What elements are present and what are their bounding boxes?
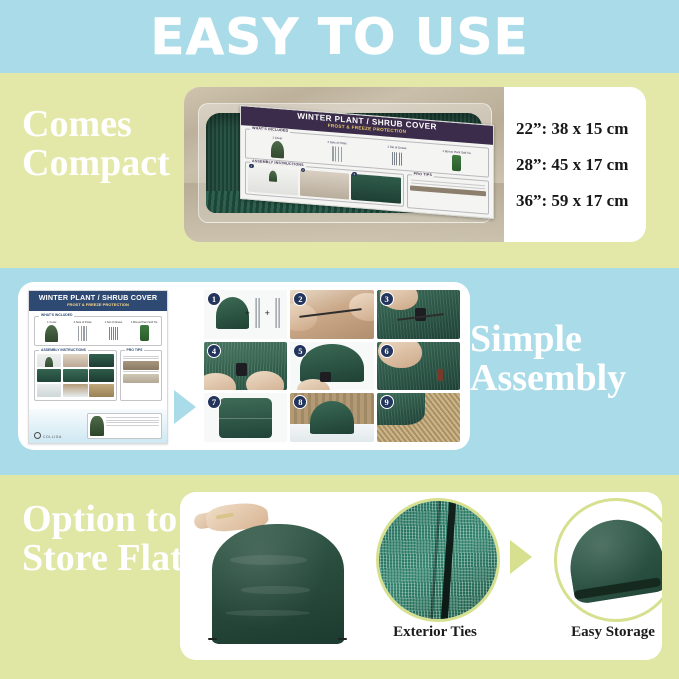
cover-flat-icon — [219, 398, 272, 438]
instruction-included-poles: 4 Sets of Poles — [69, 322, 97, 343]
instruction-body: ASSEMBLY INSTRUCTIONS PRO TIPS — [34, 350, 162, 400]
flow-arrow-icon — [174, 390, 196, 424]
brand-logo: COLLIGA — [34, 413, 84, 439]
pole-clip-icon — [320, 372, 331, 382]
instruction-step-thumb — [89, 384, 113, 397]
assembly-heading: Simple Assembly — [470, 320, 670, 398]
instruction-title: WINTER PLANT / SHRUB COVER — [29, 294, 167, 301]
label-protips-section: PRO TIPS — [407, 174, 489, 214]
instruction-protips: PRO TIPS — [120, 350, 162, 400]
poles-icon — [69, 325, 97, 342]
wrinkle — [241, 586, 310, 593]
assembly-steps-grid: 1 + + 2 3 — [204, 290, 460, 442]
protip-thumb — [123, 361, 159, 370]
instruction-note — [87, 413, 162, 439]
protip-thumb — [123, 374, 159, 383]
instruction-subtitle: FROST & FREEZE PROTECTION — [29, 303, 167, 307]
assembly-step: 1 + + — [204, 290, 287, 339]
step-number-badge: 6 — [380, 344, 394, 358]
exterior-ties-caption: Exterior Ties — [360, 624, 510, 641]
product-label: WINTER PLANT / SHRUB COVER FROST & FREEZ… — [240, 105, 494, 219]
cover-dome-icon — [310, 401, 353, 434]
instr-poles-caption: 4 Sets of Poles — [69, 322, 97, 325]
wrinkle — [225, 610, 309, 616]
size-row: 22”: 38 x 15 cm — [516, 119, 646, 139]
instruction-included-cover: 1 Cover — [38, 322, 66, 343]
plant-tie-icon — [452, 154, 461, 171]
note-lines — [106, 416, 159, 436]
included-item-poles: 4 Sets of Poles — [309, 139, 366, 164]
compact-heading: Comes Compact — [22, 105, 197, 183]
compact-card: WINTER PLANT / SHRUB COVER FROST & FREEZ… — [184, 87, 646, 242]
step-number-badge: 5 — [293, 344, 307, 358]
instruction-step-thumb — [37, 384, 61, 397]
protip-line — [123, 356, 159, 357]
size-row: 36”: 59 x 17 cm — [516, 191, 646, 211]
instruction-sheet: WINTER PLANT / SHRUB COVER FROST & FREEZ… — [28, 290, 168, 444]
included-item-tie: 1 Bonus Plant Soft Tie — [428, 149, 485, 174]
assembly-step: 2 — [290, 290, 373, 339]
assembly-step: 4 — [204, 342, 287, 391]
assembly-step: 6 — [377, 342, 460, 391]
flat-cover-icon — [212, 524, 344, 644]
store-heading: Option to Store Flat — [22, 500, 192, 578]
instr-draws-caption: 1 Set of Draws — [100, 322, 128, 325]
protip-line — [123, 371, 159, 372]
poles-icon — [309, 143, 366, 164]
instruction-step-thumb — [63, 384, 87, 397]
instruction-header: WINTER PLANT / SHRUB COVER FROST & FREEZ… — [29, 291, 167, 311]
dome-icon — [269, 170, 277, 182]
wrinkle — [230, 555, 307, 565]
instruction-step-thumb — [37, 354, 61, 367]
protip-line — [123, 358, 159, 359]
instruction-step-thumb — [89, 369, 113, 382]
label-protips-heading: PRO TIPS — [412, 172, 434, 178]
label-step-badge-1: 1 — [249, 163, 254, 168]
assembly-step: 5 — [290, 342, 373, 391]
label-assembly-thumb-1: 1 — [248, 165, 298, 195]
tie-end-icon — [437, 369, 443, 381]
poles-icon — [275, 298, 281, 328]
instruction-included-draws: 1 Set of Draws — [100, 322, 128, 343]
infographic-page: EASY TO USE Comes Compact WINTER PLANT /… — [0, 0, 679, 679]
easy-storage-closeup — [554, 498, 662, 622]
plus-symbol: + — [245, 308, 250, 318]
plant-tie-icon — [140, 325, 149, 341]
step-number-badge: 9 — [380, 395, 394, 409]
brand-name: COLLIGA — [43, 435, 62, 439]
assembly-step: 3 — [377, 290, 460, 339]
step-poles-group: + + — [242, 298, 282, 328]
logo-mark-icon — [34, 432, 41, 439]
instruction-steps-grid: ASSEMBLY INSTRUCTIONS — [34, 350, 117, 400]
draws-icon — [100, 325, 128, 342]
cover-dome-icon — [45, 325, 58, 342]
instruction-step-thumb — [63, 354, 87, 367]
plus-symbol: + — [265, 308, 270, 318]
included-item-draws: 1 Set of Draws — [369, 144, 426, 169]
step-number-badge: 1 — [207, 292, 221, 306]
flow-arrow-icon — [510, 540, 532, 574]
instruction-step-thumb — [37, 369, 61, 382]
note-cover-icon — [90, 416, 104, 436]
package-photo: WINTER PLANT / SHRUB COVER FROST & FREEZ… — [184, 87, 504, 242]
tie-icon — [338, 638, 347, 640]
easy-storage-caption: Easy Storage — [538, 624, 662, 641]
instruction-included-row: 1 Cover 4 Sets of Poles 1 Set of Draws 1… — [38, 322, 158, 343]
assembly-step: 9 — [377, 393, 460, 442]
instruction-step-thumb — [89, 354, 113, 367]
label-step-badge-2: 2 — [301, 167, 306, 172]
instruction-step-thumb — [63, 369, 87, 382]
draws-icon — [369, 148, 426, 169]
page-title: EASY TO USE — [0, 0, 679, 73]
pole-clip-icon — [236, 363, 247, 376]
instruction-included-tie: 1 Bonus Plant Soft Tie — [130, 322, 158, 343]
instruction-assembly-heading: ASSEMBLY INSTRUCTIONS — [39, 348, 88, 352]
label-step-badge-3: 3 — [352, 172, 357, 177]
store-card: Exterior Ties Easy Storage — [180, 492, 662, 660]
label-assembly-thumb-2: 2 — [300, 169, 350, 199]
assembly-card: WINTER PLANT / SHRUB COVER FROST & FREEZ… — [18, 282, 470, 450]
tie-icon — [208, 638, 217, 640]
instruction-protips-heading: PRO TIPS — [125, 348, 145, 352]
instr-tie-caption: 1 Bonus Plant Soft Tie — [130, 322, 158, 325]
assembly-step: 7 — [204, 393, 287, 442]
label-assembly-thumb-3: 3 — [351, 173, 401, 203]
dome-icon — [45, 357, 53, 367]
size-row: 28”: 45 x 17 cm — [516, 155, 646, 175]
instr-cover-caption: 1 Cover — [38, 322, 66, 325]
size-list: 22”: 38 x 15 cm 28”: 45 x 17 cm 36”: 59 … — [506, 87, 646, 242]
poles-icon — [255, 298, 261, 328]
instruction-footer: COLLIGA — [34, 413, 162, 439]
included-item-cover: 1 Cover — [249, 135, 306, 160]
instruction-included-heading: WHAT'S INCLUDED — [39, 313, 74, 317]
assembly-step: 8 — [290, 393, 373, 442]
exterior-ties-closeup — [376, 498, 500, 622]
instruction-included-section: WHAT'S INCLUDED 1 Cover 4 Sets of Poles … — [34, 316, 162, 347]
step-number-badge: 4 — [207, 344, 221, 358]
cover-dome-icon — [271, 140, 284, 158]
fold-lines — [219, 398, 272, 438]
step-number-badge: 3 — [380, 292, 394, 306]
flat-storage-photo — [186, 498, 372, 654]
